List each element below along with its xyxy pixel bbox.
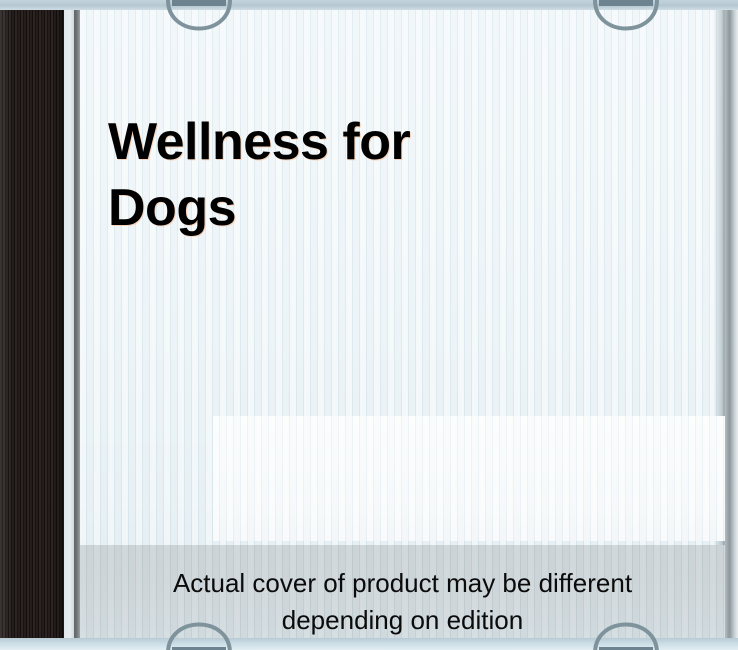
book-spine (0, 9, 64, 641)
cover-title-line-1: Wellness for (108, 109, 588, 175)
spine-highlight (0, 9, 64, 641)
binder-ring-top-left-icon[interactable] (158, 0, 240, 42)
cover-title-line-2: Dogs (108, 175, 588, 241)
cover-title: Wellness for Dogs (108, 109, 588, 241)
binder-ring-top-right-icon[interactable] (585, 0, 667, 42)
cover-light-panel-stripe-texture (213, 416, 725, 541)
cover-light-panel (213, 416, 725, 541)
cover-caption-line-1: Actual cover of product may be different (80, 565, 725, 602)
cover-outer-edge (725, 0, 738, 650)
book-cover-product-image[interactable]: Wellness for Dogs Actual cover of produc… (0, 0, 738, 650)
page-edge-strip (64, 9, 74, 641)
binder-ring-bottom-left-icon[interactable] (158, 613, 240, 650)
page-stripe-texture (80, 9, 725, 638)
gutter-shadow (74, 9, 80, 641)
page-right-shadow (713, 9, 725, 638)
binder-ring-bottom-right-icon[interactable] (585, 613, 667, 650)
cover-page: Wellness for Dogs Actual cover of produc… (80, 9, 725, 638)
